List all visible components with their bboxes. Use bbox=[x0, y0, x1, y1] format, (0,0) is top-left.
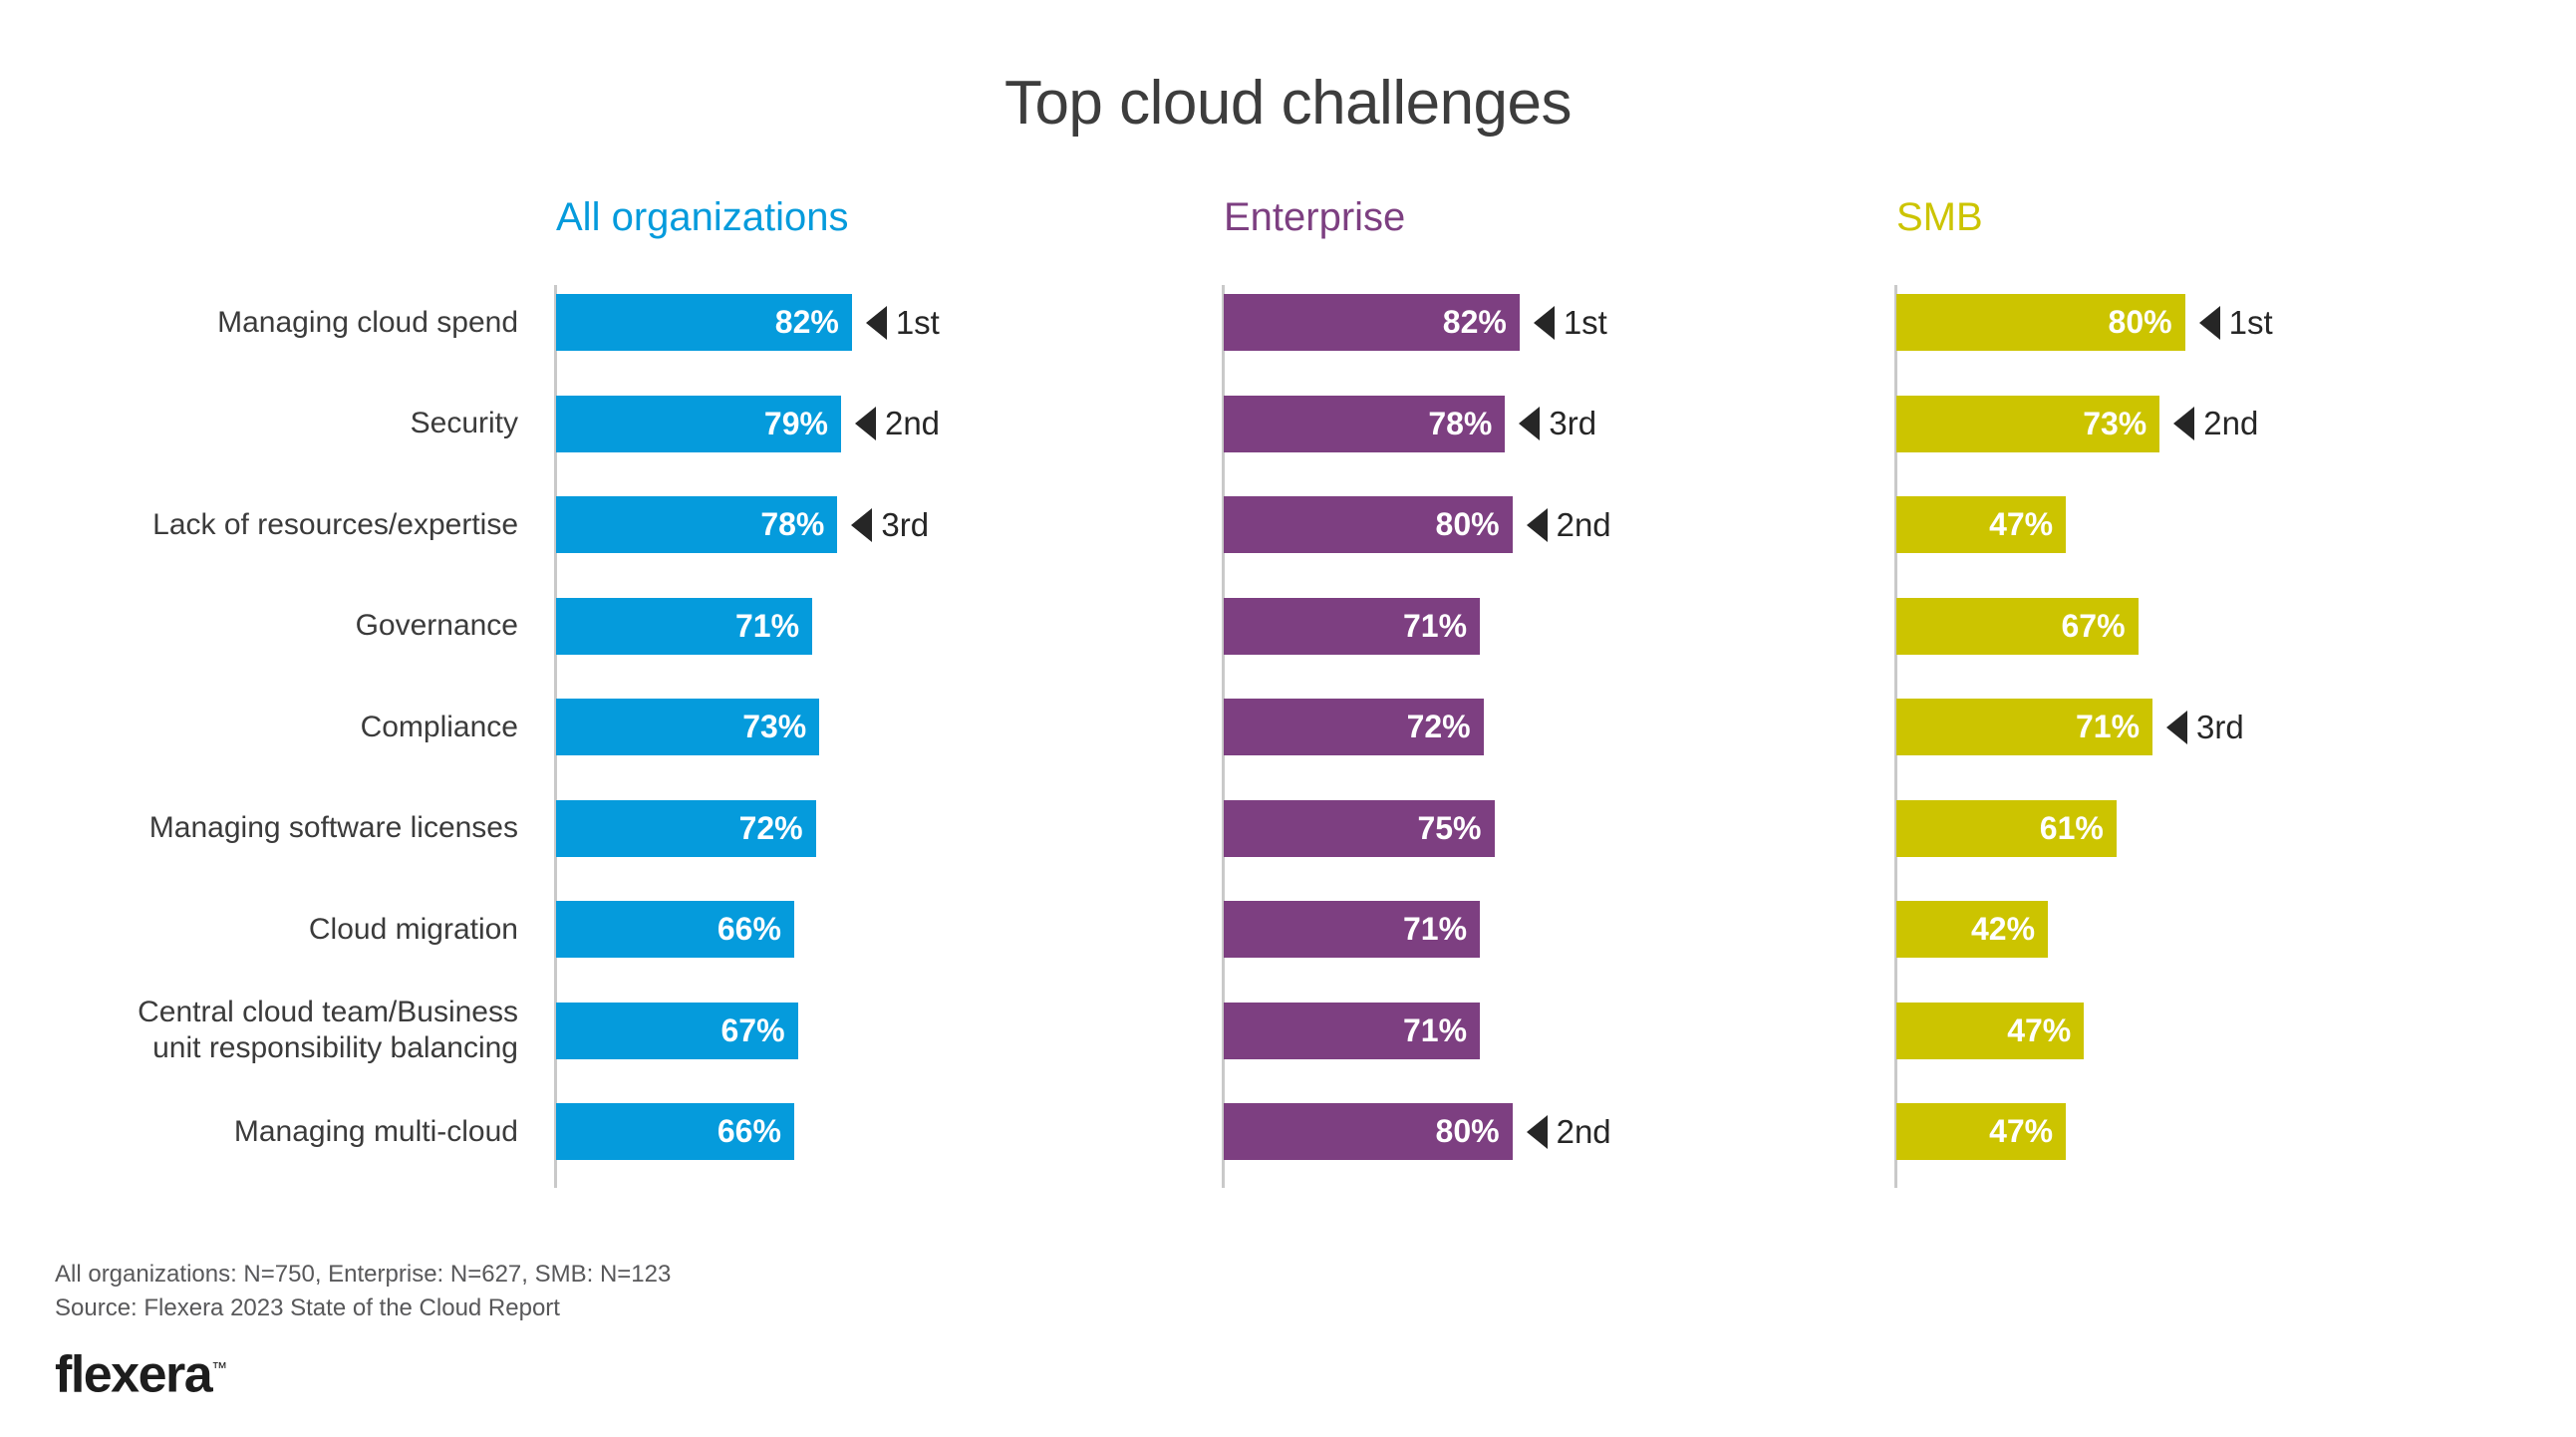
triangle-left-icon bbox=[2173, 407, 2194, 440]
bar-value-label: 71% bbox=[1403, 608, 1480, 645]
bar-value-label: 72% bbox=[1407, 709, 1484, 745]
bar-value-label: 75% bbox=[1417, 810, 1494, 847]
category-label: Governance bbox=[40, 608, 518, 644]
triangle-left-icon bbox=[855, 407, 876, 440]
bar: 42% bbox=[1896, 901, 2048, 958]
bar: 71% bbox=[1896, 699, 2152, 755]
triangle-left-icon bbox=[1534, 306, 1555, 340]
bar: 67% bbox=[1896, 598, 2139, 655]
rank-label: 3rd bbox=[2196, 709, 2244, 746]
bar-value-label: 73% bbox=[2083, 406, 2159, 442]
bar: 66% bbox=[556, 901, 794, 958]
footnote-block: All organizations: N=750, Enterprise: N=… bbox=[55, 1258, 671, 1325]
rank-annotation: 2nd bbox=[1527, 496, 1611, 553]
rank-label: 2nd bbox=[885, 405, 940, 442]
bar: 73% bbox=[556, 699, 819, 755]
group-header-enterprise: Enterprise bbox=[1224, 195, 1405, 240]
bar: 61% bbox=[1896, 800, 2117, 857]
chart-plot-area: All organizationsEnterpriseSMBManaging c… bbox=[0, 0, 2576, 1437]
bar-value-label: 78% bbox=[1428, 406, 1505, 442]
bar-value-label: 82% bbox=[1443, 304, 1520, 341]
group-header-smb: SMB bbox=[1896, 195, 1983, 240]
category-label: Security bbox=[40, 406, 518, 441]
bar: 79% bbox=[556, 396, 841, 452]
rank-label: 3rd bbox=[881, 506, 929, 544]
bar: 71% bbox=[1224, 901, 1480, 958]
bar: 80% bbox=[1224, 1103, 1513, 1160]
bar-value-label: 80% bbox=[2109, 304, 2185, 341]
bar-value-label: 80% bbox=[1436, 506, 1513, 543]
bar: 78% bbox=[556, 496, 837, 553]
rank-annotation: 2nd bbox=[855, 396, 940, 452]
bar-value-label: 79% bbox=[764, 406, 841, 442]
bar: 72% bbox=[1224, 699, 1484, 755]
rank-annotation: 1st bbox=[2199, 294, 2273, 351]
bar-value-label: 82% bbox=[775, 304, 852, 341]
rank-label: 2nd bbox=[1557, 1113, 1611, 1151]
category-label: Lack of resources/expertise bbox=[40, 507, 518, 543]
bar-value-label: 61% bbox=[2040, 810, 2117, 847]
bar-value-label: 72% bbox=[739, 810, 816, 847]
bar-value-label: 71% bbox=[1403, 911, 1480, 948]
rank-annotation: 3rd bbox=[2166, 699, 2244, 755]
bar: 80% bbox=[1896, 294, 2185, 351]
triangle-left-icon bbox=[2166, 711, 2187, 744]
rank-label: 3rd bbox=[1549, 405, 1596, 442]
category-label: Cloud migration bbox=[40, 912, 518, 948]
bar-value-label: 66% bbox=[717, 1113, 794, 1150]
rank-annotation: 3rd bbox=[851, 496, 929, 553]
bar-value-label: 71% bbox=[2076, 709, 2152, 745]
triangle-left-icon bbox=[851, 508, 872, 542]
bar: 82% bbox=[556, 294, 852, 351]
bar: 72% bbox=[556, 800, 816, 857]
category-label: Compliance bbox=[40, 710, 518, 745]
bar-value-label: 73% bbox=[742, 709, 819, 745]
rank-annotation: 1st bbox=[1534, 294, 1607, 351]
bar: 71% bbox=[1224, 1003, 1480, 1059]
bar-value-label: 42% bbox=[1971, 911, 2048, 948]
rank-label: 2nd bbox=[2203, 405, 2258, 442]
bar: 73% bbox=[1896, 396, 2159, 452]
rank-annotation: 2nd bbox=[2173, 396, 2258, 452]
bar-value-label: 80% bbox=[1436, 1113, 1513, 1150]
bar: 78% bbox=[1224, 396, 1505, 452]
triangle-left-icon bbox=[1527, 508, 1548, 542]
rank-annotation: 3rd bbox=[1519, 396, 1596, 452]
logo-wordmark: flexera bbox=[55, 1345, 211, 1403]
bar: 47% bbox=[1896, 1103, 2066, 1160]
rank-label: 1st bbox=[1564, 304, 1607, 342]
bar: 80% bbox=[1224, 496, 1513, 553]
rank-label: 1st bbox=[896, 304, 940, 342]
rank-label: 2nd bbox=[1557, 506, 1611, 544]
bar-value-label: 71% bbox=[735, 608, 812, 645]
bar-value-label: 78% bbox=[760, 506, 837, 543]
bar-value-label: 67% bbox=[2061, 608, 2138, 645]
category-label: Central cloud team/Business unit respons… bbox=[40, 995, 518, 1066]
rank-annotation: 2nd bbox=[1527, 1103, 1611, 1160]
flexera-logo: flexera™ bbox=[55, 1343, 227, 1400]
bar: 67% bbox=[556, 1003, 798, 1059]
bar: 71% bbox=[556, 598, 812, 655]
footnote-source: Source: Flexera 2023 State of the Cloud … bbox=[55, 1292, 671, 1325]
bar: 66% bbox=[556, 1103, 794, 1160]
category-label: Managing software licenses bbox=[40, 810, 518, 846]
bar: 47% bbox=[1896, 1003, 2084, 1059]
bar: 71% bbox=[1224, 598, 1480, 655]
bar: 47% bbox=[1896, 496, 2066, 553]
triangle-left-icon bbox=[866, 306, 887, 340]
rank-label: 1st bbox=[2229, 304, 2273, 342]
group-header-all-organizations: All organizations bbox=[556, 195, 849, 240]
triangle-left-icon bbox=[1519, 407, 1540, 440]
bar: 82% bbox=[1224, 294, 1520, 351]
bar: 75% bbox=[1224, 800, 1495, 857]
triangle-left-icon bbox=[1527, 1115, 1548, 1149]
category-label: Managing multi-cloud bbox=[40, 1114, 518, 1150]
bar-value-label: 66% bbox=[717, 911, 794, 948]
bar-value-label: 71% bbox=[1403, 1012, 1480, 1049]
bar-value-label: 67% bbox=[720, 1012, 797, 1049]
triangle-left-icon bbox=[2199, 306, 2220, 340]
trademark-symbol: ™ bbox=[211, 1360, 227, 1377]
footnote-sample-sizes: All organizations: N=750, Enterprise: N=… bbox=[55, 1258, 671, 1292]
bar-value-label: 47% bbox=[1989, 506, 2066, 543]
bar-value-label: 47% bbox=[2007, 1012, 2084, 1049]
bar-value-label: 47% bbox=[1989, 1113, 2066, 1150]
category-label: Managing cloud spend bbox=[40, 305, 518, 341]
rank-annotation: 1st bbox=[866, 294, 940, 351]
